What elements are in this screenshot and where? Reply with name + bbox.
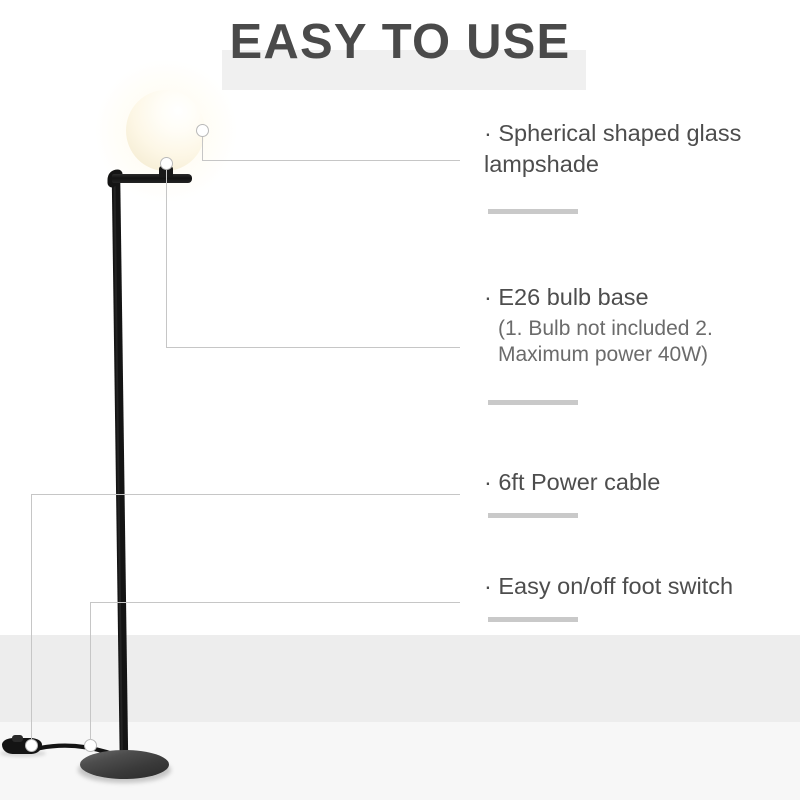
callout-bulb-base-underline <box>488 400 578 405</box>
leader-switch-vertical <box>31 494 32 740</box>
callout-foot-switch-underline <box>488 617 578 622</box>
callout-lampshade-text: · Spherical shaped glass lampshade <box>484 118 741 180</box>
callout-foot-switch: · Easy on/off foot switch <box>484 571 733 602</box>
leader-cable-horizontal <box>90 602 460 603</box>
lamp-horizontal-arm <box>112 174 192 183</box>
callout-power-cable: · 6ft Power cable <box>484 467 660 498</box>
callout-lampshade-underline <box>488 209 578 214</box>
foot-switch-button[interactable] <box>12 735 23 742</box>
callout-power-cable-text: · 6ft Power cable <box>484 467 660 498</box>
lamp-base <box>80 750 169 779</box>
leader-bulbbase-vertical <box>166 170 167 347</box>
leader-cable-vertical <box>90 602 91 740</box>
leader-bulbbase-horizontal <box>166 347 460 348</box>
switch-callout-marker[interactable] <box>25 739 38 752</box>
infographic-canvas: EASY TO USE · Spherical shaped glass lam… <box>0 0 800 800</box>
leader-switch-horizontal <box>31 494 460 495</box>
globe-callout-marker[interactable] <box>196 124 209 137</box>
socket-callout-marker[interactable] <box>160 157 173 170</box>
callout-lampshade: · Spherical shaped glass lampshade <box>484 118 741 180</box>
callout-foot-switch-text: · Easy on/off foot switch <box>484 571 733 602</box>
callout-power-cable-underline <box>488 513 578 518</box>
leader-lampshade-horizontal <box>202 160 460 161</box>
leader-lampshade-vertical <box>202 137 203 161</box>
cable-callout-marker[interactable] <box>84 739 97 752</box>
callout-bulb-base: · E26 bulb base (1. Bulb not included 2.… <box>484 282 800 368</box>
callout-bulb-base-text: · E26 bulb base <box>484 282 800 313</box>
callout-bulb-base-subtext: (1. Bulb not included 2. Maximum power 4… <box>498 316 800 368</box>
